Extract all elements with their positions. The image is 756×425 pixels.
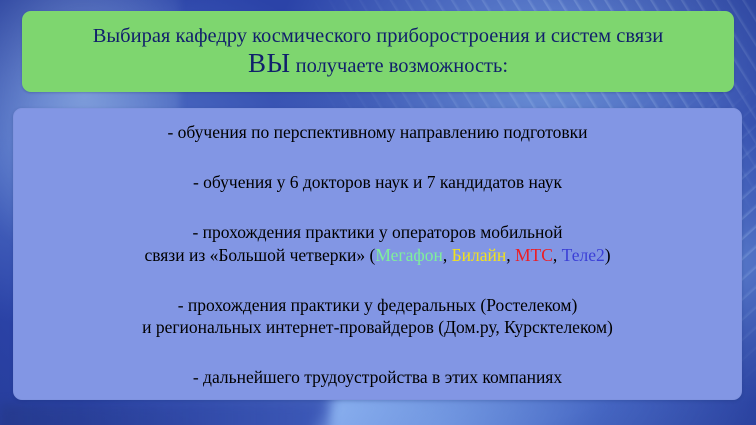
operators-suffix: ) [605, 245, 611, 265]
bullet-internet-providers-line-1: - прохождения практики у федеральных (Ро… [28, 294, 727, 317]
operators-prefix: связи из «Большой четверки» ( [144, 245, 375, 265]
slide-title-line-1: Выбирая кафедру космического приборостро… [93, 25, 664, 47]
operator-separator: , [443, 245, 452, 265]
slide-title-line-2-rest: получаете возможность: [291, 55, 509, 77]
bullet-employment: - дальнейшего трудоустройства в этих ком… [28, 366, 727, 389]
bullet-internet-providers: - прохождения практики у федеральных (Ро… [28, 294, 727, 340]
operator-list: Мегафон, Билайн, МТС, Теле2 [375, 245, 604, 265]
operator-name-2: Билайн [452, 245, 507, 265]
operator-name-4: Теле2 [562, 245, 605, 265]
slide-title-emphasis: ВЫ [248, 48, 291, 78]
slide-title-line-2: ВЫ получаете возможность: [248, 49, 508, 78]
operator-name-3: МТС [515, 245, 553, 265]
operator-separator: , [553, 245, 562, 265]
bullet-faculty: - обучения у 6 докторов наук и 7 кандида… [28, 171, 727, 194]
bullet-mobile-operators-line-1: - прохождения практики у операторов моби… [28, 221, 727, 244]
slide-content-panel: - обучения по перспективному направлению… [13, 108, 742, 400]
operator-name-1: Мегафон [375, 245, 443, 265]
bullet-internet-providers-line-2: и региональных интернет-провайдеров (Дом… [28, 316, 727, 339]
bullet-mobile-operators: - прохождения практики у операторов моби… [28, 221, 727, 267]
operator-separator: , [506, 245, 515, 265]
bullet-education-direction: - обучения по перспективному направлению… [28, 121, 727, 144]
presentation-slide: Выбирая кафедру космического приборостро… [0, 0, 756, 425]
slide-title-banner: Выбирая кафедру космического приборостро… [22, 11, 734, 92]
bullet-mobile-operators-line-2: связи из «Большой четверки» (Мегафон, Би… [28, 244, 727, 267]
